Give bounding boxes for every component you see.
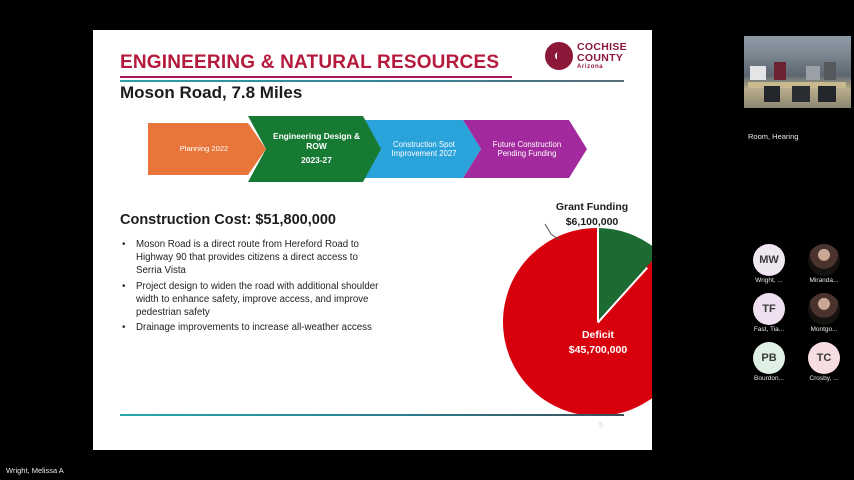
process-step-2-label: Engineering Design & ROW — [268, 132, 365, 152]
pie-slices — [503, 228, 652, 416]
bullet-item: •Moson Road is a direct route from Heref… — [120, 238, 385, 278]
avatar — [808, 244, 840, 276]
participant-name: Bourdon... — [744, 375, 794, 382]
process-flow-diagram: Planning 2022Engineering Design & ROW202… — [148, 116, 618, 182]
shared-screen-stage: ENGINEERING & NATURAL RESOURCES COCHISE … — [0, 0, 740, 480]
logo-line-3: Arizona — [577, 64, 627, 70]
participant-rail: Room, Hearing MWWright, ...Miranda...TFF… — [740, 0, 854, 480]
process-step-1-label: Planning 2022 — [180, 145, 229, 154]
logo-wordmark: COCHISE COUNTY Arizona — [577, 42, 627, 71]
zoom-meeting-window: ENGINEERING & NATURAL RESOURCES COCHISE … — [0, 0, 854, 480]
logo-line-2: COUNTY — [577, 53, 627, 64]
title-underline-teal — [120, 80, 624, 82]
slide-subtitle: Moson Road, 7.8 Miles — [120, 83, 302, 103]
bullet-text: Moson Road is a direct route from Herefo… — [136, 238, 385, 278]
participant-tile[interactable]: PBBourdon... — [744, 342, 794, 388]
bullet-marker: • — [120, 238, 136, 278]
pie-label-grant-value: $6,100,000 — [566, 216, 619, 228]
avatar-initials: TC — [808, 342, 840, 374]
pie-label-deficit: Deficit $45,700,000 — [533, 328, 652, 358]
participant-name: Fast, Tia... — [744, 326, 794, 333]
hearing-room-caption: Room, Hearing — [748, 132, 798, 141]
bullet-list: •Moson Road is a direct route from Heref… — [120, 238, 385, 336]
bullet-item: •Project design to widen the road with a… — [120, 280, 385, 320]
avatar-initials: MW — [753, 244, 785, 276]
participant-tile[interactable]: TCCrosby, ... — [799, 342, 849, 388]
pie-label-grant-name: Grant Funding — [556, 201, 628, 213]
participant-tile[interactable]: TFFast, Tia... — [744, 293, 794, 339]
process-step-3-label: Construction Spot Improvement 2027 — [383, 140, 465, 158]
county-seal-icon — [545, 42, 573, 70]
slide-header-title: ENGINEERING & NATURAL RESOURCES — [120, 52, 499, 74]
bullet-marker: • — [120, 280, 136, 320]
presentation-slide: ENGINEERING & NATURAL RESOURCES COCHISE … — [93, 30, 652, 450]
cochise-county-logo: COCHISE COUNTY Arizona — [545, 40, 633, 74]
participant-tile[interactable]: Miranda... — [799, 244, 849, 290]
process-step-1: Planning 2022 — [148, 123, 266, 175]
participant-name: Crosby, ... — [799, 375, 849, 382]
pie-label-deficit-value: $45,700,000 — [569, 344, 627, 356]
hearing-room-video-tile[interactable] — [744, 36, 851, 108]
pie-divider-top — [597, 228, 599, 322]
process-step-4: Future Construction Pending Funding — [463, 120, 587, 178]
pie-label-deficit-name: Deficit — [582, 329, 614, 341]
participant-tile[interactable]: MWWright, ... — [744, 244, 794, 290]
process-step-2-sub: 2023-27 — [268, 156, 365, 166]
avatar-initials: PB — [753, 342, 785, 374]
active-speaker-label: Wright, Melissa A — [6, 466, 64, 475]
slide-number: 5 — [591, 422, 611, 429]
participant-tile[interactable]: Montgo... — [799, 293, 849, 339]
participant-name: Miranda... — [799, 277, 849, 284]
funding-pie-chart: Deficit $45,700,000 Grant Funding $6,100… — [393, 200, 643, 430]
avatar — [808, 293, 840, 325]
participant-tiles: MWWright, ...Miranda...TFFast, Tia...Mon… — [744, 244, 851, 390]
bullet-text: Drainage improvements to increase all-we… — [136, 321, 372, 334]
participant-name: Montgo... — [799, 326, 849, 333]
hearing-room-video-frame — [744, 36, 851, 108]
process-step-4-label: Future Construction Pending Funding — [483, 140, 571, 158]
bullet-item: •Drainage improvements to increase all-w… — [120, 321, 385, 334]
construction-cost-heading: Construction Cost: $51,800,000 — [120, 212, 336, 228]
title-underline-magenta — [120, 76, 512, 78]
bullet-marker: • — [120, 321, 136, 334]
process-step-2: Engineering Design & ROW2023-27 — [248, 116, 381, 182]
slide-footer-rule — [120, 414, 624, 416]
pie-callout-grant: Grant Funding $6,100,000 — [541, 200, 643, 230]
avatar-initials: TF — [753, 293, 785, 325]
bullet-text: Project design to widen the road with ad… — [136, 280, 385, 320]
participant-name: Wright, ... — [744, 277, 794, 284]
